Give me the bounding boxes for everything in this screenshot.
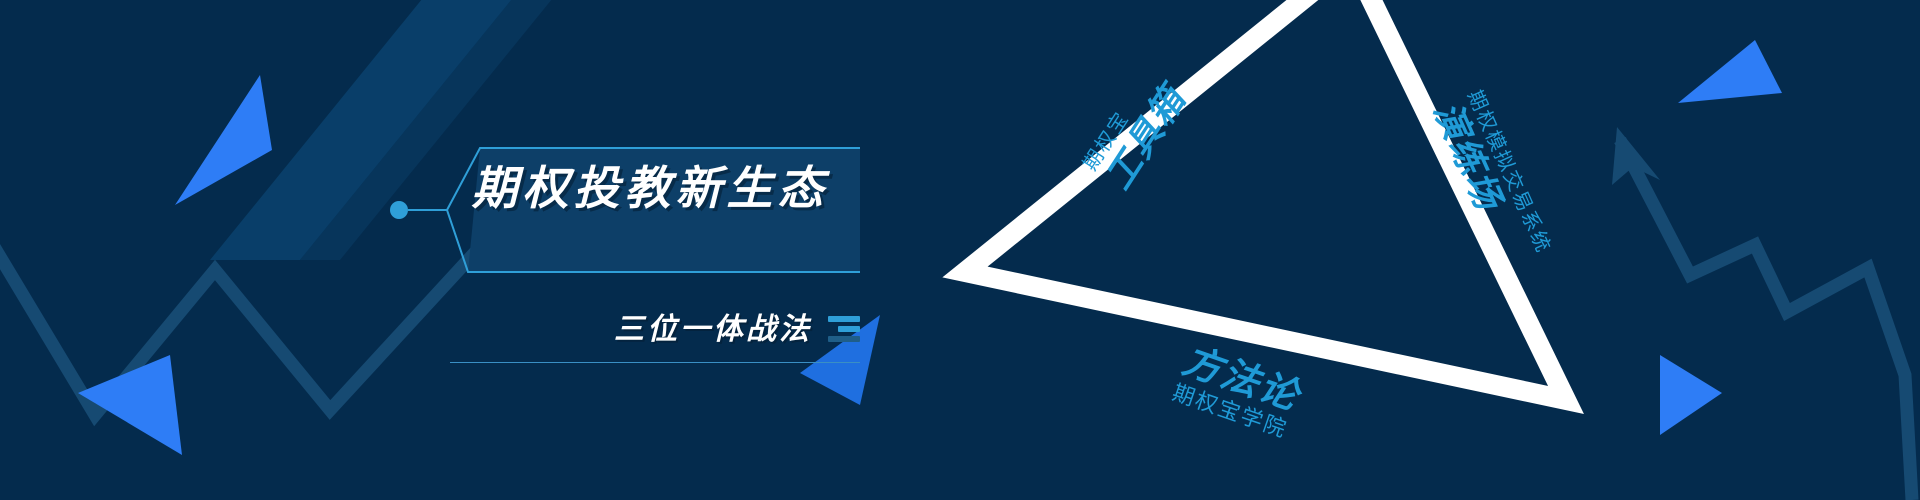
connector-dot — [390, 201, 408, 219]
subtitle-text: 三位一体战法 — [614, 315, 812, 345]
bars-icon — [828, 316, 860, 344]
divider-line — [450, 362, 860, 363]
headline-group: 期权投教新生态 三位一体战法 — [440, 140, 860, 370]
subheadline-row: 三位一体战法 — [480, 315, 860, 345]
promo-banner: 期权宝 工具箱 期权模拟交易系统 演练场 方法论 期权宝学院 期权投教新生态 三… — [0, 0, 1920, 500]
triangle-outline — [0, 0, 1920, 500]
page-title: 期权投教新生态 — [465, 165, 835, 211]
